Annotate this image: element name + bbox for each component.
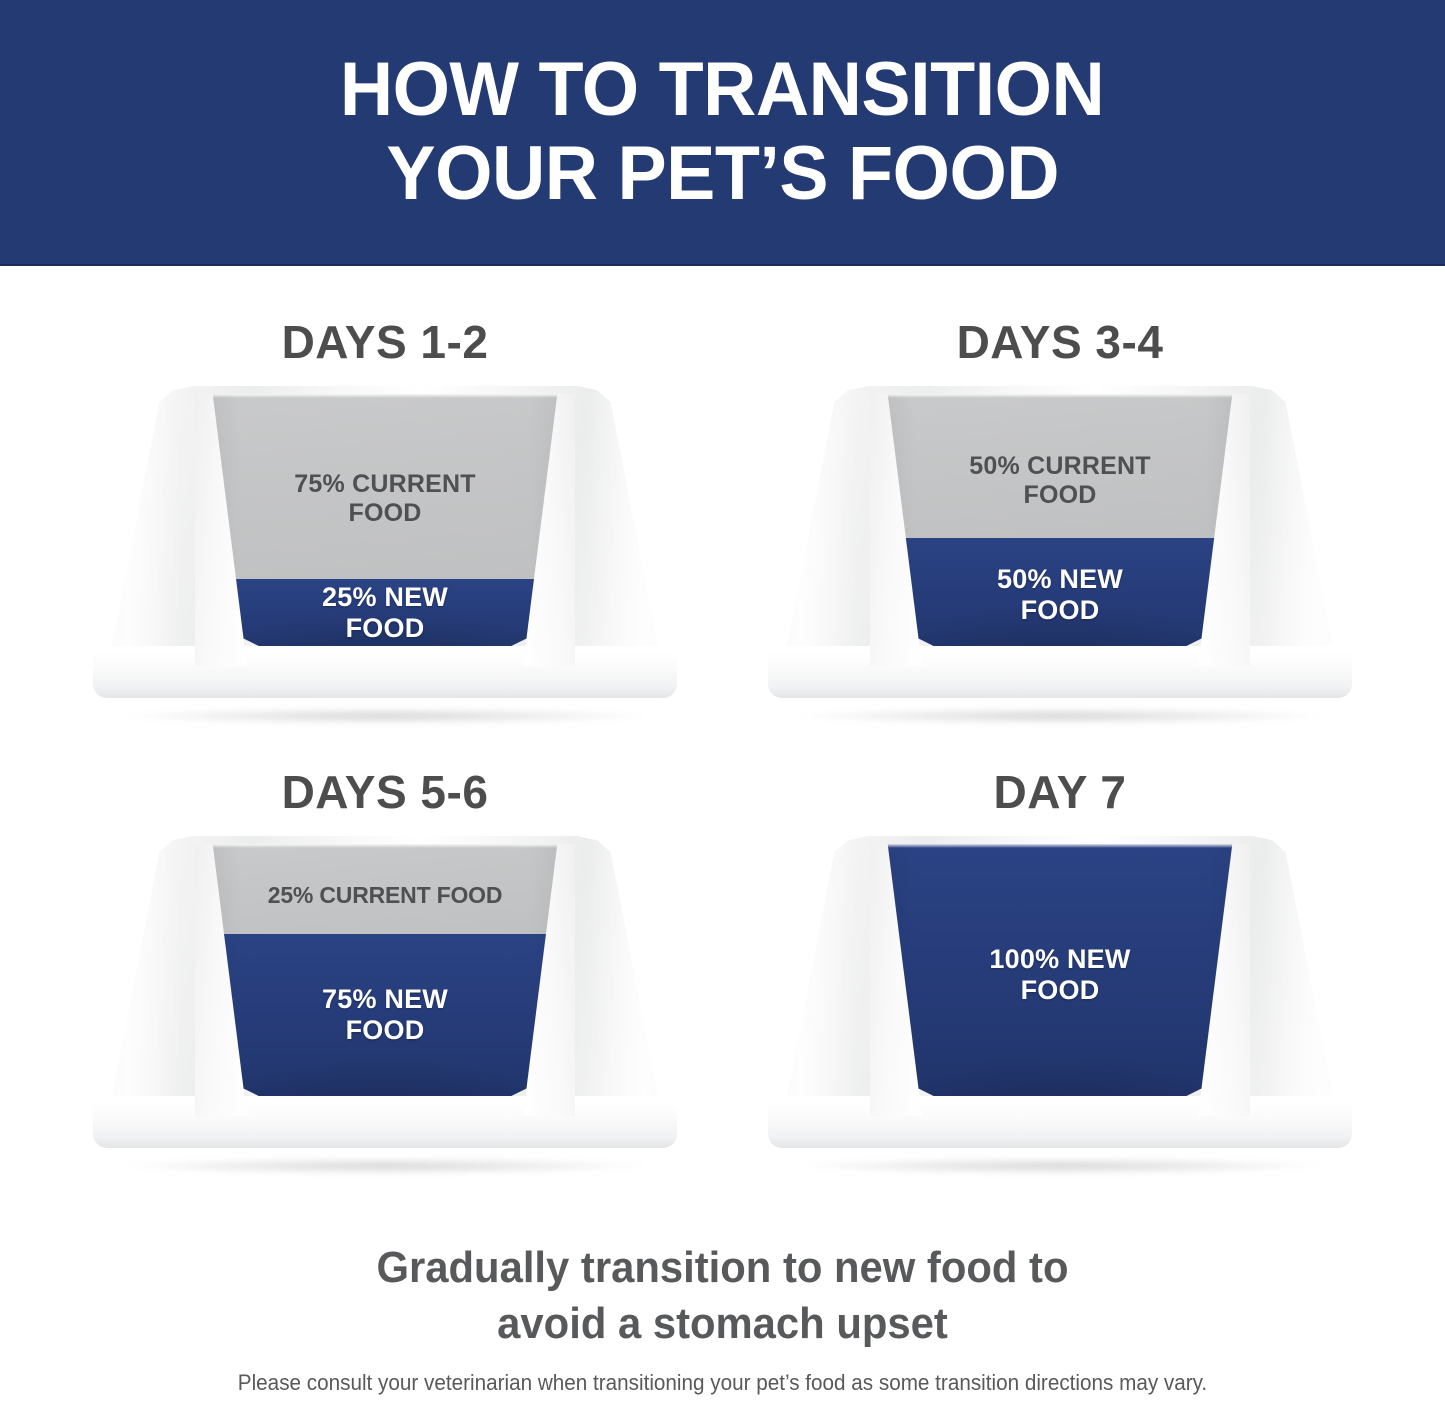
step-panel-days-5-6: DAYS 5-6 25% CURRENT FOOD	[35, 766, 735, 1216]
bowl-days-1-2: 75% CURRENT FOOD 25% NEW FOOD	[85, 378, 685, 718]
header-title-line-2: YOUR PET’S FOOD	[386, 132, 1059, 216]
bowl-day-7: 100% NEW FOOD	[760, 828, 1360, 1168]
transition-steps-grid: DAYS 1-2 75% CURRENT FOOD	[0, 266, 1445, 1236]
step-panel-days-1-2: DAYS 1-2 75% CURRENT FOOD	[35, 316, 735, 766]
bowl-base-foot	[93, 646, 677, 698]
bowl-food-well	[195, 394, 575, 666]
bowl-base-foot	[93, 1096, 677, 1148]
step-title-day-7: DAY 7	[710, 766, 1410, 828]
bowl-shadow	[800, 1158, 1320, 1174]
step-title-days-1-2: DAYS 1-2	[35, 316, 735, 378]
header-banner: HOW TO TRANSITION YOUR PET’S FOOD	[0, 0, 1445, 266]
bowl-base-foot	[768, 1096, 1352, 1148]
infographic-page: HOW TO TRANSITION YOUR PET’S FOOD DAYS 1…	[0, 0, 1445, 1407]
bowl-food-well	[870, 394, 1250, 666]
footer-tagline-line-2: avoid a stomach upset	[36, 1296, 1409, 1352]
footer-disclaimer: Please consult your veterinarian when tr…	[43, 1369, 1401, 1397]
step-panel-days-3-4: DAYS 3-4 50% CURRENT FOOD	[710, 316, 1410, 766]
bowl-shadow	[125, 1158, 645, 1174]
footer-tagline: Gradually transition to new food to avoi…	[36, 1240, 1409, 1352]
new-food-fill	[195, 934, 575, 1116]
bowl-base-foot	[768, 646, 1352, 698]
current-food-fill	[870, 394, 1250, 538]
bowl-shadow	[800, 708, 1320, 724]
current-food-fill	[195, 394, 575, 579]
bowl-shadow	[125, 708, 645, 724]
step-title-days-3-4: DAYS 3-4	[710, 316, 1410, 378]
step-panel-day-7: DAY 7 100% NEW FOOD	[710, 766, 1410, 1216]
new-food-fill	[870, 844, 1250, 1116]
bowl-food-well	[870, 844, 1250, 1116]
step-title-days-5-6: DAYS 5-6	[35, 766, 735, 828]
bowl-food-well	[195, 844, 575, 1116]
bowl-days-5-6: 25% CURRENT FOOD 75% NEW FOOD	[85, 828, 685, 1168]
header-title-line-1: HOW TO TRANSITION	[340, 48, 1104, 132]
footer-tagline-line-1: Gradually transition to new food to	[36, 1240, 1409, 1296]
current-food-fill	[195, 844, 575, 934]
bowl-days-3-4: 50% CURRENT FOOD 50% NEW FOOD	[760, 378, 1360, 718]
